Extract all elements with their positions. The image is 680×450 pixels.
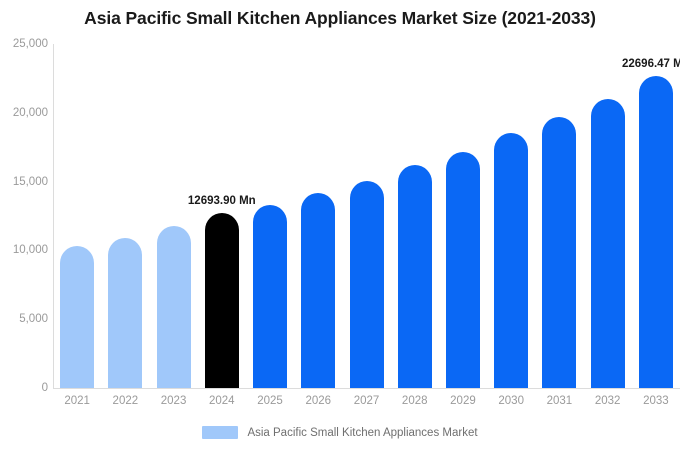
y-axis-tick-label: 15,000 — [0, 176, 48, 188]
x-axis-tick-label: 2033 — [633, 395, 679, 407]
data-label-2024: 12693.90 Mn — [188, 195, 256, 207]
bar-rect — [494, 133, 528, 388]
data-label-2033: 22696.47 Mn — [622, 58, 680, 70]
x-axis-tick-label: 2032 — [585, 395, 631, 407]
x-axis-tick-label: 2031 — [536, 395, 582, 407]
bar-rect — [205, 213, 239, 388]
chart-legend: Asia Pacific Small Kitchen Appliances Ma… — [0, 426, 680, 439]
y-axis-tick-labels: 05,00010,00015,00020,00025,000 — [0, 44, 48, 388]
bar-2028[interactable] — [398, 44, 432, 388]
bar-rect — [639, 76, 673, 388]
x-axis-line — [53, 388, 680, 389]
bar-rect — [108, 238, 142, 388]
legend-swatch-icon — [202, 426, 238, 439]
x-axis-tick-label: 2027 — [344, 395, 390, 407]
bar-rect — [542, 117, 576, 388]
y-axis-tick-label: 0 — [0, 382, 48, 394]
y-axis-tick-label: 10,000 — [0, 244, 48, 256]
bar-2021[interactable] — [60, 44, 94, 388]
x-axis-tick-label: 2029 — [440, 395, 486, 407]
x-axis-tick-label: 2023 — [151, 395, 197, 407]
x-axis-tick-label: 2021 — [54, 395, 100, 407]
x-axis-tick-label: 2025 — [247, 395, 293, 407]
x-axis-tick-label: 2022 — [102, 395, 148, 407]
bar-2026[interactable] — [301, 44, 335, 388]
y-axis-tick-label: 5,000 — [0, 313, 48, 325]
bar-2033[interactable] — [639, 44, 673, 388]
bar-rect — [301, 193, 335, 388]
x-axis-tick-label: 2026 — [295, 395, 341, 407]
bar-2030[interactable] — [494, 44, 528, 388]
bar-rect — [591, 99, 625, 388]
chart-container: Asia Pacific Small Kitchen Appliances Ma… — [0, 0, 680, 450]
bar-rect — [446, 152, 480, 388]
bar-2024[interactable] — [205, 44, 239, 388]
bar-rect — [350, 181, 384, 388]
bar-2031[interactable] — [542, 44, 576, 388]
bar-2023[interactable] — [157, 44, 191, 388]
legend-item-label: Asia Pacific Small Kitchen Appliances Ma… — [247, 427, 477, 439]
bar-2032[interactable] — [591, 44, 625, 388]
bar-2027[interactable] — [350, 44, 384, 388]
y-axis-tick-label: 20,000 — [0, 107, 48, 119]
chart-title: Asia Pacific Small Kitchen Appliances Ma… — [0, 8, 680, 29]
bar-rect — [398, 165, 432, 388]
bar-2025[interactable] — [253, 44, 287, 388]
x-axis-tick-labels: 2021202220232024202520262027202820292030… — [53, 395, 680, 413]
bar-2029[interactable] — [446, 44, 480, 388]
bar-rect — [60, 246, 94, 388]
x-axis-tick-label: 2028 — [392, 395, 438, 407]
x-axis-tick-label: 2024 — [199, 395, 245, 407]
bar-2022[interactable] — [108, 44, 142, 388]
x-axis-tick-label: 2030 — [488, 395, 534, 407]
y-axis-tick-label: 25,000 — [0, 38, 48, 50]
bar-series-group: 12693.90 Mn22696.47 Mn — [53, 44, 680, 388]
bar-rect — [253, 205, 287, 388]
bar-rect — [157, 226, 191, 388]
